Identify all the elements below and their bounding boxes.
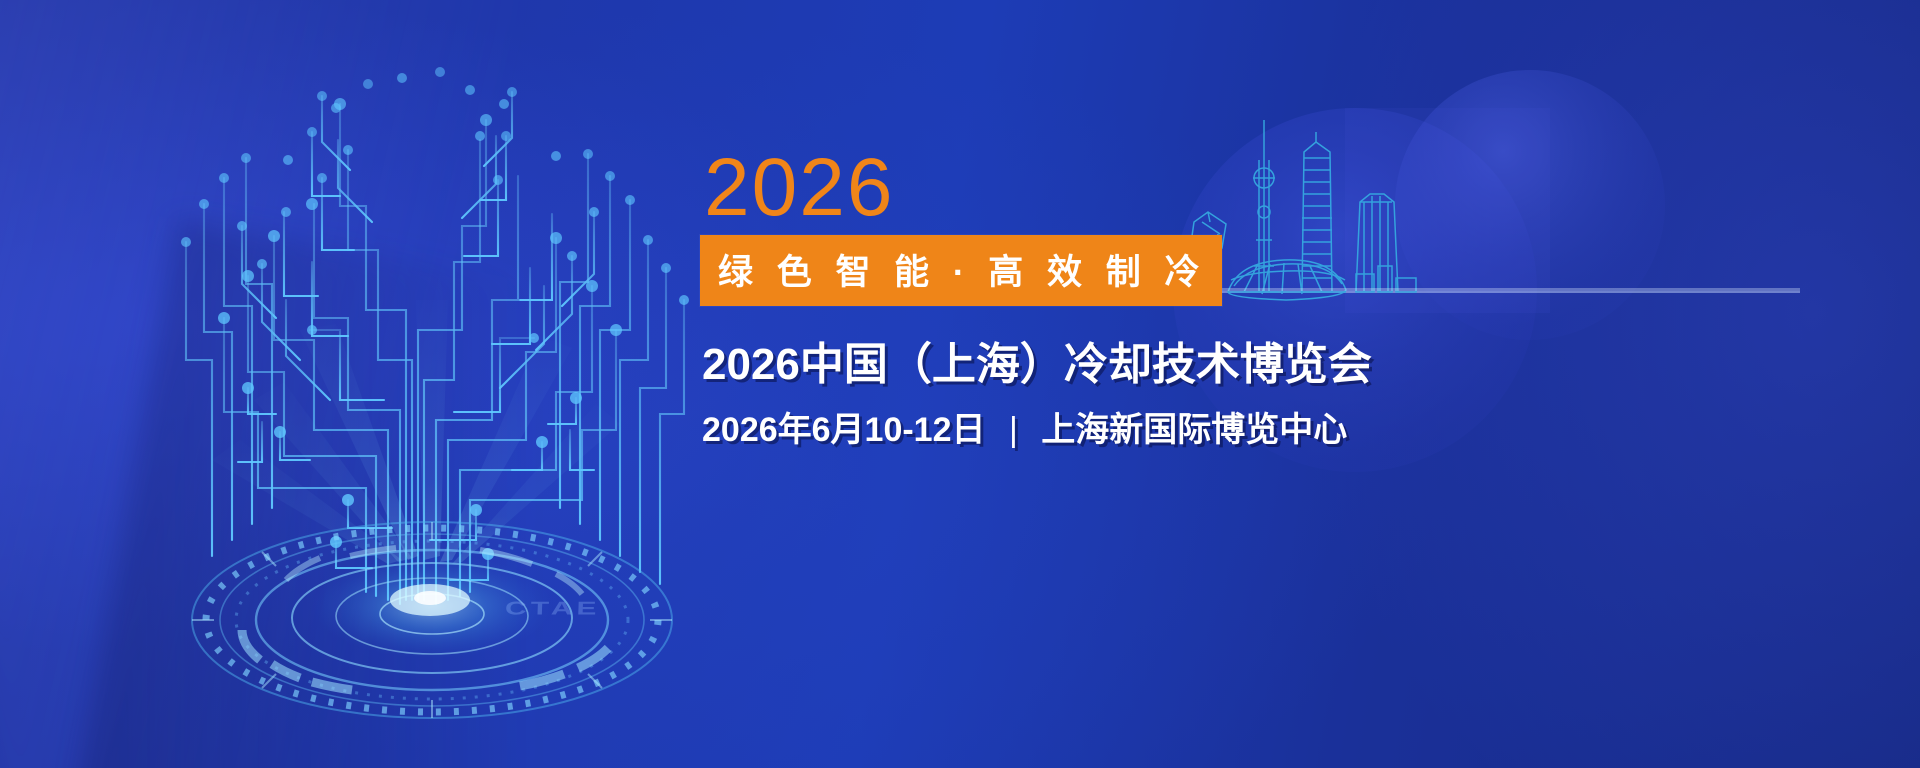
event-venue: 上海新国际博览中心 — [1041, 411, 1347, 449]
event-date: 2026年6月10-12日 — [702, 411, 986, 449]
hologram-label: CTAE — [505, 598, 601, 619]
banner-canvas: CTAE 2026 绿 色 智 能 · 高 效 制 冷 2026中国（上海）冷却… — [0, 0, 1920, 768]
banner-text-block: 2026 绿 色 智 能 · 高 效 制 冷 2026中国（上海）冷却技术博览会… — [700, 150, 1400, 451]
event-title: 2026中国（上海）冷却技术博览会 — [702, 328, 1400, 392]
event-date-venue: 2026年6月10-12日 | 上海新国际博览中心 — [702, 402, 1400, 451]
tagline-badge: 绿 色 智 能 · 高 效 制 冷 — [700, 235, 1222, 306]
separator-pipe: | — [995, 411, 1032, 449]
year-headline: 2026 — [704, 150, 1400, 225]
